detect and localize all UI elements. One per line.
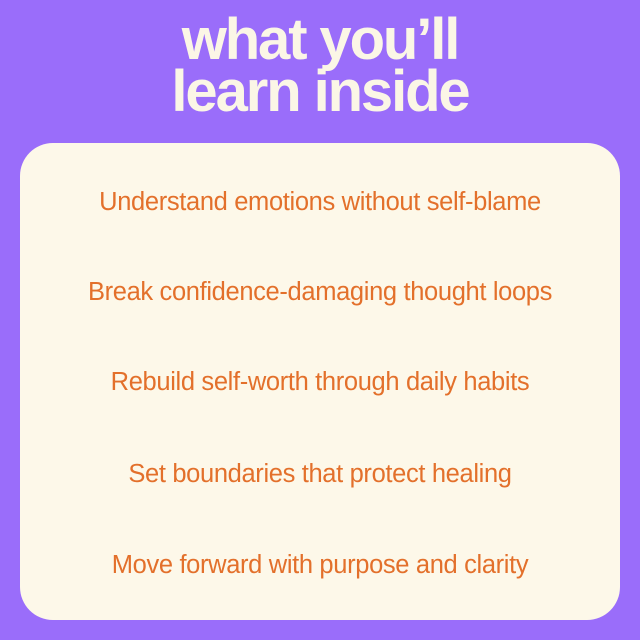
list-item: Move forward with purpose and clarity	[20, 550, 620, 580]
list-item: Set boundaries that protect healing	[20, 459, 620, 489]
page-title-line-2: learn inside	[0, 66, 640, 118]
list-item: Understand emotions without self-blame	[20, 187, 620, 217]
benefits-list: Understand emotions without self-blame B…	[20, 143, 620, 620]
list-item: Rebuild self-worth through daily habits	[20, 367, 620, 397]
list-item: Break confidence-damaging thought loops	[20, 277, 620, 307]
slide-canvas: what you’ll learn inside Understand emot…	[0, 0, 640, 640]
benefits-card: Understand emotions without self-blame B…	[20, 143, 620, 620]
page-title: what you’ll learn inside	[0, 14, 640, 118]
